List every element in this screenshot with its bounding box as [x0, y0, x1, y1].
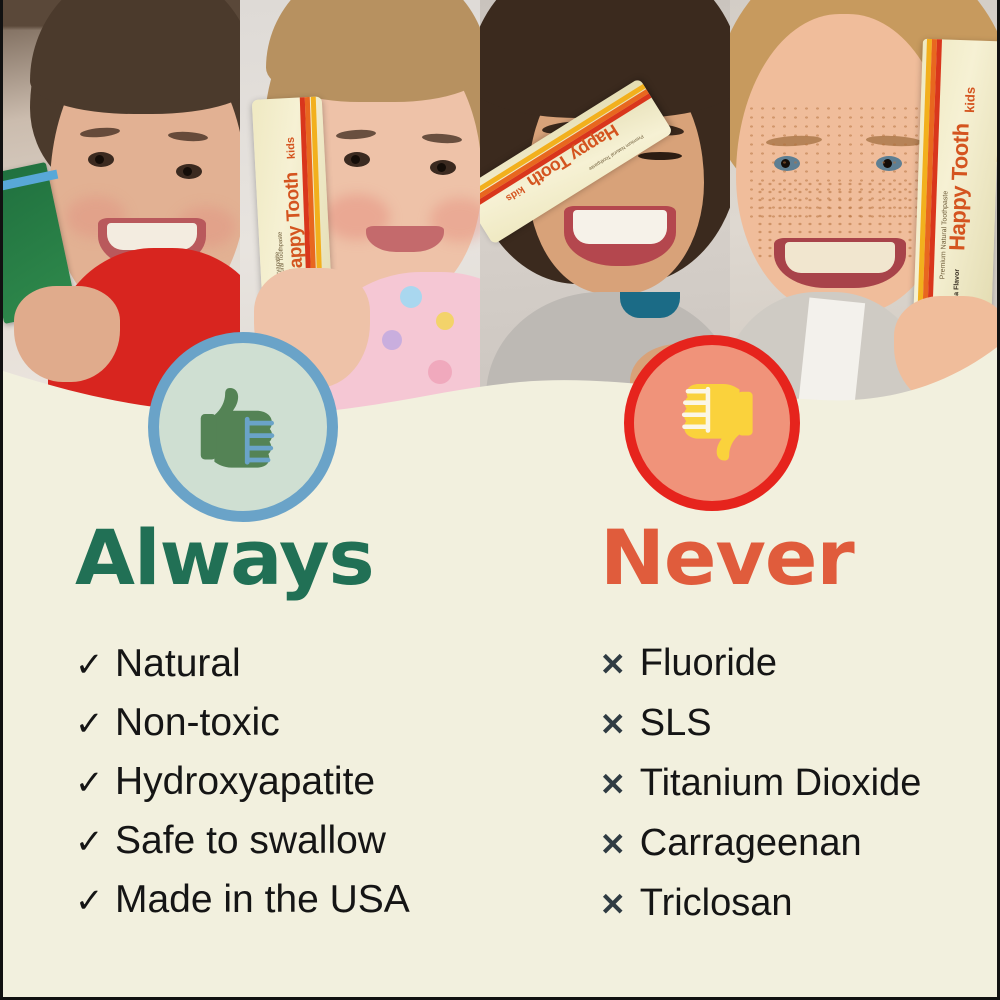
check-icon: ✓ — [75, 707, 115, 741]
thumbs-down-icon — [662, 373, 762, 473]
list-item: ✓ Non-toxic — [75, 703, 540, 742]
list-item: ✕ Triclosan — [600, 884, 997, 922]
list-item-label: Hydroxyapatite — [115, 762, 375, 801]
check-icon: ✓ — [75, 884, 115, 918]
thumbs-up-badge — [148, 332, 338, 522]
list-item-label: Titanium Dioxide — [640, 764, 922, 802]
always-list: ✓ Natural ✓ Non-toxic ✓ Hydroxyapatite ✓… — [75, 644, 540, 919]
cross-icon: ✕ — [600, 829, 640, 860]
list-item: ✕ Fluoride — [600, 644, 997, 682]
cross-icon: ✕ — [600, 889, 640, 920]
list-item-label: Made in the USA — [115, 880, 410, 919]
never-list: ✕ Fluoride ✕ SLS ✕ Titanium Dioxide ✕ Ca… — [600, 644, 997, 922]
thumbs-down-badge — [624, 335, 800, 511]
cross-icon: ✕ — [600, 769, 640, 800]
list-item-label: Safe to swallow — [115, 821, 386, 860]
poster-canvas: Happy Tooth kids Premium Natural Toothpa… — [0, 0, 1000, 1000]
list-item: ✕ Titanium Dioxide — [600, 764, 997, 802]
list-item-label: Non-toxic — [115, 703, 280, 742]
list-item-label: Natural — [115, 644, 241, 683]
list-item: ✓ Hydroxyapatite — [75, 762, 540, 801]
list-item: ✕ SLS — [600, 704, 997, 742]
check-icon: ✓ — [75, 825, 115, 859]
photo-strip: Happy Tooth kids Premium Natural Toothpa… — [0, 0, 1000, 432]
list-item-label: SLS — [640, 704, 712, 742]
thumbs-up-icon — [191, 375, 295, 479]
check-icon: ✓ — [75, 766, 115, 800]
list-item-label: Fluoride — [640, 644, 777, 682]
list-item: ✓ Natural — [75, 644, 540, 683]
comparison-columns: Always ✓ Natural ✓ Non-toxic ✓ Hydroxyap… — [3, 520, 997, 944]
always-column: Always ✓ Natural ✓ Non-toxic ✓ Hydroxyap… — [3, 520, 540, 944]
list-item: ✓ Safe to swallow — [75, 821, 540, 860]
always-title: Always — [75, 520, 549, 596]
never-title: Never — [600, 520, 1000, 596]
list-item: ✓ Made in the USA — [75, 880, 540, 919]
list-item-label: Triclosan — [640, 884, 793, 922]
never-column: Never ✕ Fluoride ✕ SLS ✕ Titanium Dioxid… — [540, 520, 997, 944]
cross-icon: ✕ — [600, 649, 640, 680]
check-icon: ✓ — [75, 648, 115, 682]
list-item-label: Carrageenan — [640, 824, 862, 862]
cross-icon: ✕ — [600, 709, 640, 740]
list-item: ✕ Carrageenan — [600, 824, 997, 862]
